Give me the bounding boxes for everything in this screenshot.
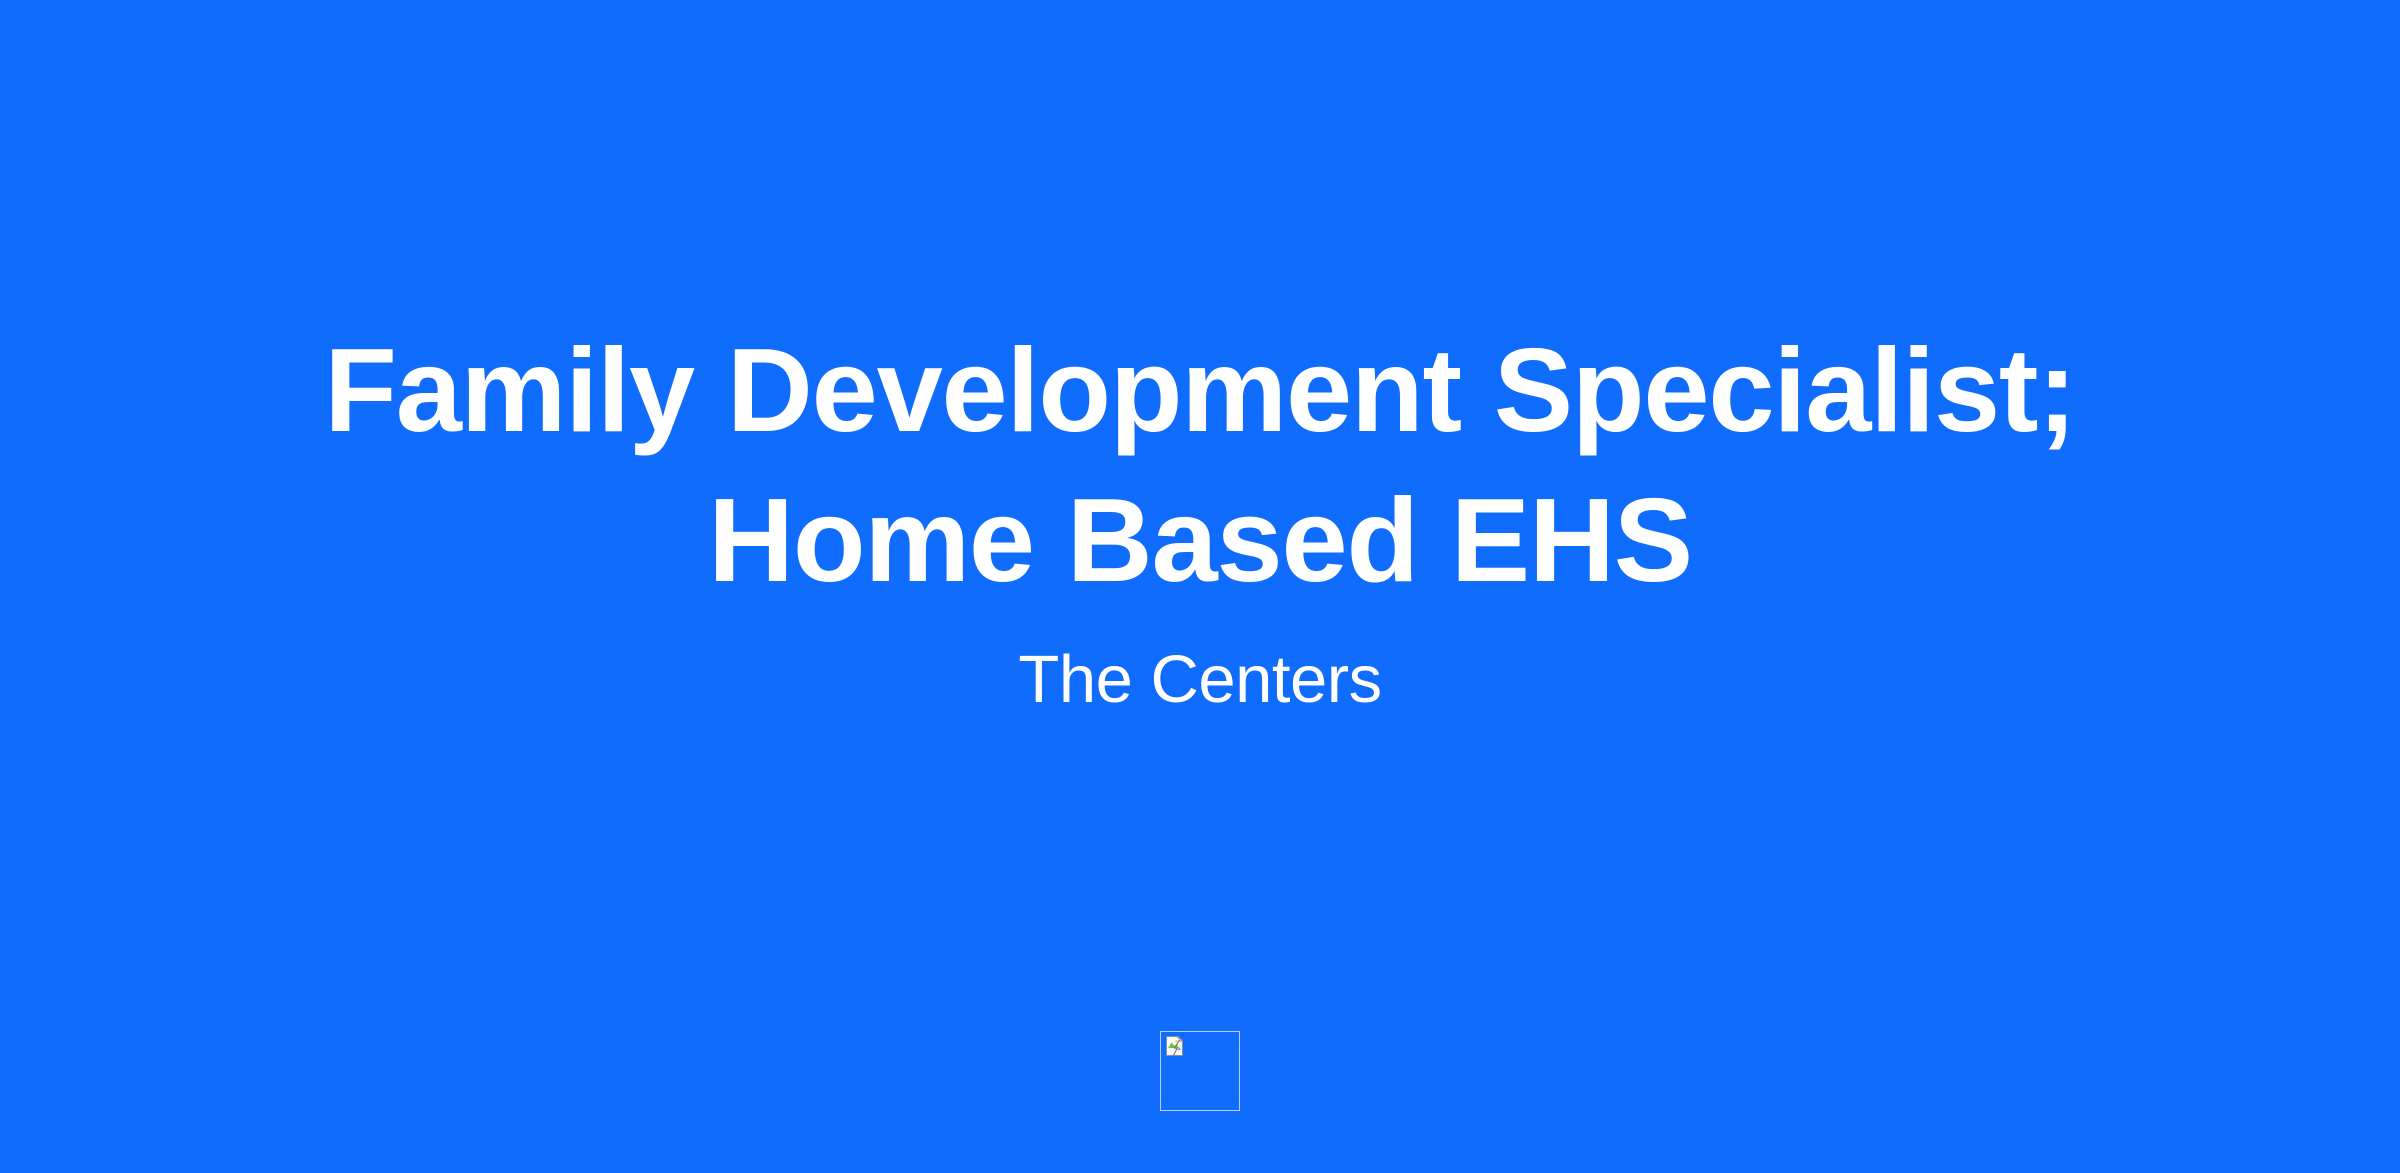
job-posting-slide: Family Development Specialist; Home Base… [0,0,2400,1173]
organization-logo-placeholder [1160,1031,1240,1111]
page-title: Family Development Specialist; Home Base… [320,316,2080,616]
hero-text-block: Family Development Specialist; Home Base… [0,0,2400,720]
broken-image-icon [1164,1035,1186,1057]
organization-name: The Centers [320,616,2080,720]
